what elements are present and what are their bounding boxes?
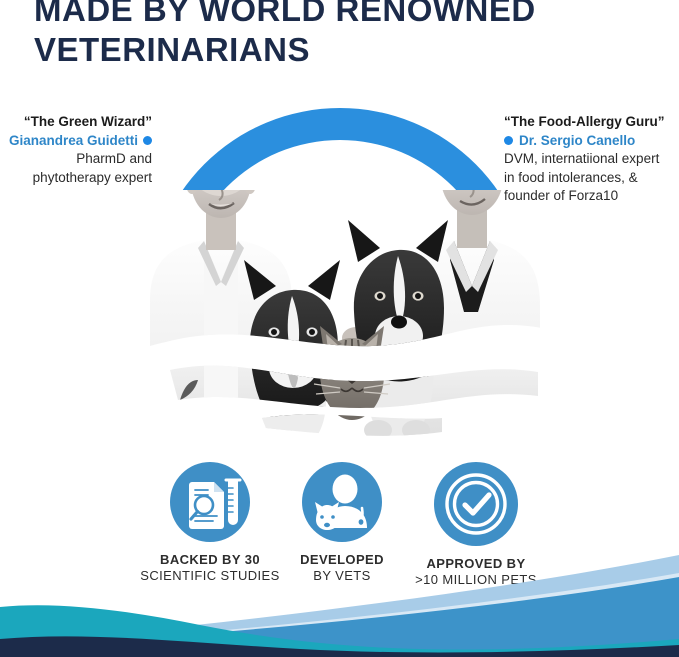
credit-right-desc-line-1: DVM, internatiional expert: [504, 150, 679, 169]
bottom-wave-decoration: [0, 547, 679, 657]
dog-right: [348, 220, 448, 444]
page-title-line-2: VETERINARIANS: [34, 30, 654, 70]
badge-circle: [434, 462, 518, 546]
credit-right-desc-line-2: in food intolerances, &: [504, 169, 679, 188]
credit-right-name: Dr. Sergio Canello: [519, 133, 635, 148]
page-title-line-1: MADE BY WORLD RENOWNED: [34, 0, 654, 30]
document-magnifier-testtube-icon: [170, 462, 250, 542]
bullet-dot-icon: [143, 136, 152, 145]
badge-circle: [302, 462, 382, 542]
bullet-dot-icon: [504, 136, 513, 145]
credit-left-quote: “The Green Wizard”: [0, 113, 152, 132]
vet-with-dog-stethoscope-icon: [302, 462, 382, 542]
credit-right-quote: “The Food-Allergy Guru”: [504, 113, 679, 132]
credit-left-desc-line-1: PharmD and: [0, 150, 152, 169]
check-circle-icon: [434, 462, 518, 546]
promo-banner: MADE BY WORLD RENOWNED VETERINARIANS: [0, 0, 679, 657]
credit-right: “The Food-Allergy Guru” Dr. Sergio Canel…: [504, 113, 679, 206]
credit-left-desc-line-2: phytotherapy expert: [0, 169, 152, 188]
veterinarians-photo: [142, 100, 542, 450]
credit-left-name-row: Gianandrea Guidetti: [0, 132, 152, 151]
credit-right-desc-line-3: founder of Forza10: [504, 187, 679, 206]
badge-circle: [170, 462, 250, 542]
vet-left: [144, 144, 292, 450]
credit-left: “The Green Wizard” Gianandrea Guidetti P…: [0, 113, 152, 187]
credit-right-name-row: Dr. Sergio Canello: [504, 132, 679, 151]
credit-left-name: Gianandrea Guidetti: [9, 133, 138, 148]
page-title: MADE BY WORLD RENOWNED VETERINARIANS: [34, 0, 654, 70]
